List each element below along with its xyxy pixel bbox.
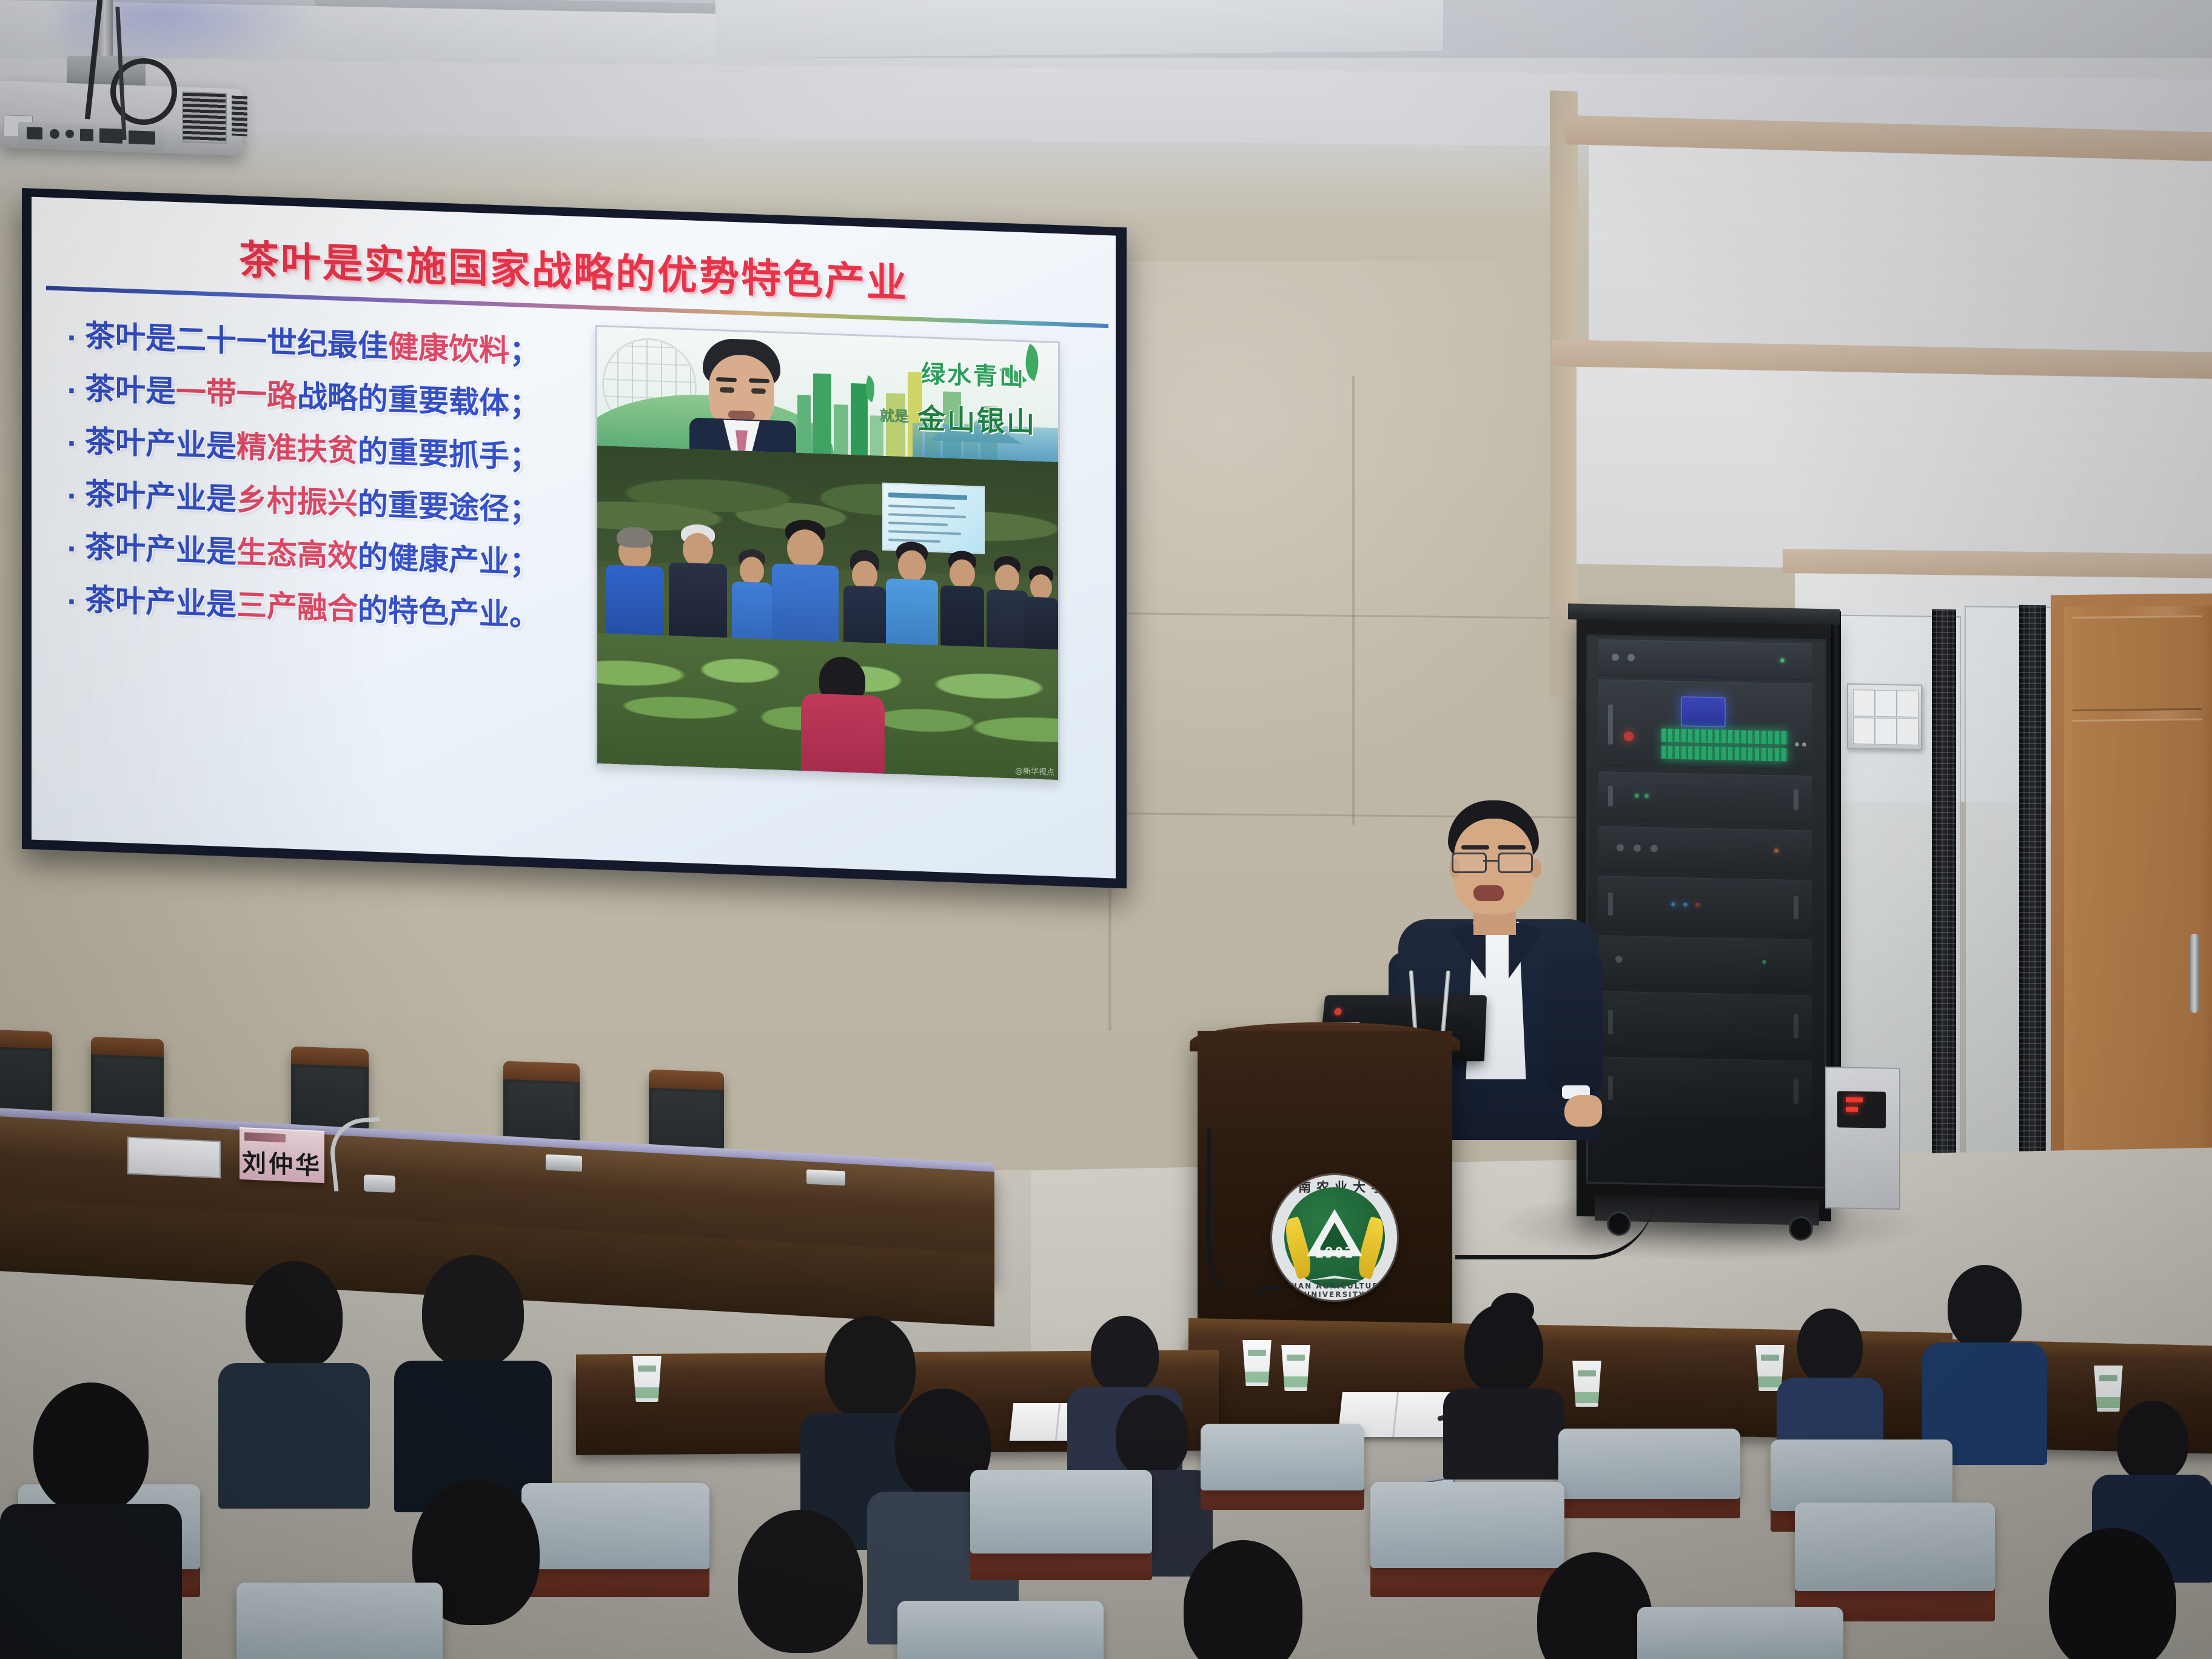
bullet-text-post: 的重要途径；	[358, 486, 540, 528]
slide-bullet-item: · 茶叶产业是精准扶贫的重要抓手；	[67, 425, 570, 475]
photo-watermark: @新华视点	[1015, 765, 1054, 777]
book-icon	[1306, 1262, 1363, 1281]
wall-mounted-heater	[1825, 1067, 1900, 1210]
bullet-text-highlight: 一带一路	[176, 374, 297, 414]
bullet-text-pre: 茶叶是二十一世纪最佳	[85, 318, 388, 364]
auditorium-seat[interactable]	[1795, 1503, 1995, 1591]
wall-socket-plate[interactable]	[1847, 683, 1922, 750]
photo-person-body	[801, 693, 885, 776]
portrait-brow	[716, 377, 737, 382]
table-document-tray	[127, 1137, 221, 1179]
slide-bullet-item: · 茶叶是一带一路战略的重要载体；	[67, 372, 570, 423]
auditorium-seat[interactable]	[1637, 1607, 1843, 1659]
bullet-text-post: 的重要抓手；	[358, 434, 540, 475]
presenter-arm-right	[1545, 952, 1603, 1095]
audience-member	[218, 1261, 370, 1504]
portrait-graphic	[688, 337, 797, 452]
audience-member	[2013, 1528, 2212, 1659]
projector-port	[99, 128, 122, 143]
projector-port	[27, 127, 42, 139]
paper-cup[interactable]	[631, 1356, 663, 1402]
audience-member	[1152, 1540, 1334, 1659]
bullet-dot: ·	[67, 431, 76, 457]
projection-screen: 茶叶是实施国家战略的优势特色产业 · 茶叶是二十一世纪最佳健康饮料； · 茶叶是…	[32, 197, 1116, 879]
lecture-hall-scene: 茶叶是实施国家战略的优势特色产业 · 茶叶是二十一世纪最佳健康饮料； · 茶叶是…	[0, 0, 2212, 1659]
banner-headline-1: 绿水青山	[921, 354, 1025, 393]
bullet-text-highlight: 乡村振兴	[236, 482, 358, 521]
table-microphone-base	[806, 1170, 845, 1186]
audience-member	[1922, 1265, 2047, 1465]
door-panel-top	[2073, 615, 2202, 711]
auditorium-seat[interactable]	[897, 1601, 1104, 1659]
slide-banner-image: 绿水青山 就是 金山银山	[597, 327, 1058, 462]
glasses-icon	[1452, 853, 1537, 870]
paper-cup[interactable]	[1241, 1340, 1273, 1386]
bullet-text-highlight: 三产融合	[236, 588, 358, 627]
rack-glass-door[interactable]	[1586, 634, 1826, 1188]
rack-caster-wheel	[1789, 1216, 1813, 1241]
auditorium-seat[interactable]	[1201, 1424, 1364, 1490]
placard-name: 刘仲华	[240, 1143, 324, 1182]
door-panel-middle	[2073, 719, 2202, 1202]
bullet-dot: ·	[67, 484, 76, 510]
bullet-text-post: 战略的重要载体；	[297, 378, 540, 422]
slide-bullet-item: · 茶叶产业是乡村振兴的重要途径；	[67, 478, 570, 528]
presenter-brow	[1498, 845, 1526, 850]
slide-title: 茶叶是实施国家战略的优势特色产业	[32, 220, 1116, 317]
bullet-text-post: 的健康产业；	[358, 539, 540, 581]
paper-cup[interactable]	[1570, 1361, 1603, 1407]
bullet-text-pre: 茶叶产业是	[85, 424, 236, 464]
presentation-slide: 茶叶是实施国家战略的优势特色产业 · 茶叶是二十一世纪最佳健康饮料； · 茶叶是…	[32, 197, 1116, 879]
slide-photo-image: @新华视点	[597, 446, 1058, 780]
emblem-inner-disc: 1902	[1284, 1187, 1385, 1288]
audience-member	[1443, 1304, 1564, 1480]
bullet-text-post: ；	[509, 333, 540, 370]
auditorium-seat[interactable]	[970, 1470, 1152, 1553]
projector-vent	[182, 92, 227, 144]
glass-wall-mullion	[2019, 605, 2046, 1218]
laptop-power-led	[1334, 1008, 1342, 1016]
auditorium-seat[interactable]	[236, 1583, 443, 1659]
projector-port	[50, 129, 59, 139]
audience-member	[394, 1255, 552, 1510]
projector-vent	[232, 96, 247, 136]
slide-bullet-item: · 茶叶产业是生态高效的健康产业；	[67, 531, 570, 581]
presenter-brow	[1461, 845, 1489, 850]
bullet-text-highlight: 生态高效	[236, 535, 358, 574]
university-emblem: 河南农业大学 1902 HENAN AGRICULTURAL UNIVERSIT…	[1272, 1175, 1397, 1300]
bullet-dot: ·	[67, 589, 76, 615]
bullet-text-highlight: 健康饮料	[388, 329, 509, 369]
placard-logo	[244, 1132, 286, 1142]
bullet-text-pre: 茶叶是	[85, 371, 176, 409]
wall-seam	[1352, 376, 1355, 825]
slide-bullet-item: · 茶叶是二十一世纪最佳健康饮料；	[67, 320, 570, 370]
table-microphone-base	[364, 1175, 395, 1193]
projection-screen-frame: 茶叶是实施国家战略的优势特色产业 · 茶叶是二十一世纪最佳健康饮料； · 茶叶是…	[22, 188, 1127, 888]
heater-control-panel[interactable]	[1837, 1091, 1886, 1128]
presenter-mouth	[1473, 885, 1504, 901]
projector-port	[80, 129, 93, 141]
wall-panel	[1577, 364, 2212, 575]
auditorium-seat[interactable]	[1771, 1439, 1952, 1511]
bullet-dot: ·	[67, 537, 76, 563]
slide-bullet-item: · 茶叶产业是三产融合的特色产业。	[67, 583, 570, 634]
audience-member	[703, 1510, 897, 1659]
photo-person-foreground	[797, 655, 888, 774]
ceiling-beam-right	[716, 0, 1443, 58]
slide-image-block: 绿水青山 就是 金山银山	[595, 325, 1060, 782]
door-handle[interactable]	[2190, 934, 2199, 1013]
audience-member	[0, 1382, 182, 1659]
banner-headline-2: 金山银山	[917, 397, 1036, 441]
bullet-text-highlight: 精准扶贫	[236, 429, 358, 469]
bullet-text-pre: 茶叶产业是	[85, 582, 236, 623]
bullet-text-pre: 茶叶产业是	[85, 477, 236, 517]
banner-connector: 就是	[880, 404, 909, 426]
wall-light-sheen	[1061, 261, 1607, 806]
paper-cup[interactable]	[1279, 1345, 1312, 1391]
portrait-eye	[751, 388, 766, 394]
wall-panel	[1589, 141, 2212, 362]
emblem-english-name: HENAN AGRICULTURAL UNIVERSITY	[1272, 1282, 1397, 1299]
portrait-eye	[720, 387, 734, 393]
emblem-founding-year: 1902	[1284, 1244, 1385, 1261]
projector-port	[65, 130, 74, 138]
bullet-dot: ·	[67, 378, 76, 404]
presenter-hand	[1564, 1095, 1602, 1127]
floor-cable	[1455, 1176, 1655, 1259]
portrait-brow	[749, 378, 769, 383]
table-microphone-base	[546, 1155, 582, 1172]
floor-cable	[1207, 1128, 1265, 1298]
auditorium-seat[interactable]	[1558, 1429, 1740, 1499]
slide-bullet-list: · 茶叶是二十一世纪最佳健康饮料； · 茶叶是一带一路战略的重要载体； · 茶叶…	[67, 320, 570, 654]
bullet-text-post: 的特色产业。	[358, 592, 540, 634]
bullet-text-pre: 茶叶产业是	[85, 529, 236, 570]
glass-wall-mullion	[1932, 609, 1956, 1216]
name-placard: 刘仲华	[240, 1127, 324, 1183]
bullet-dot: ·	[67, 326, 76, 352]
